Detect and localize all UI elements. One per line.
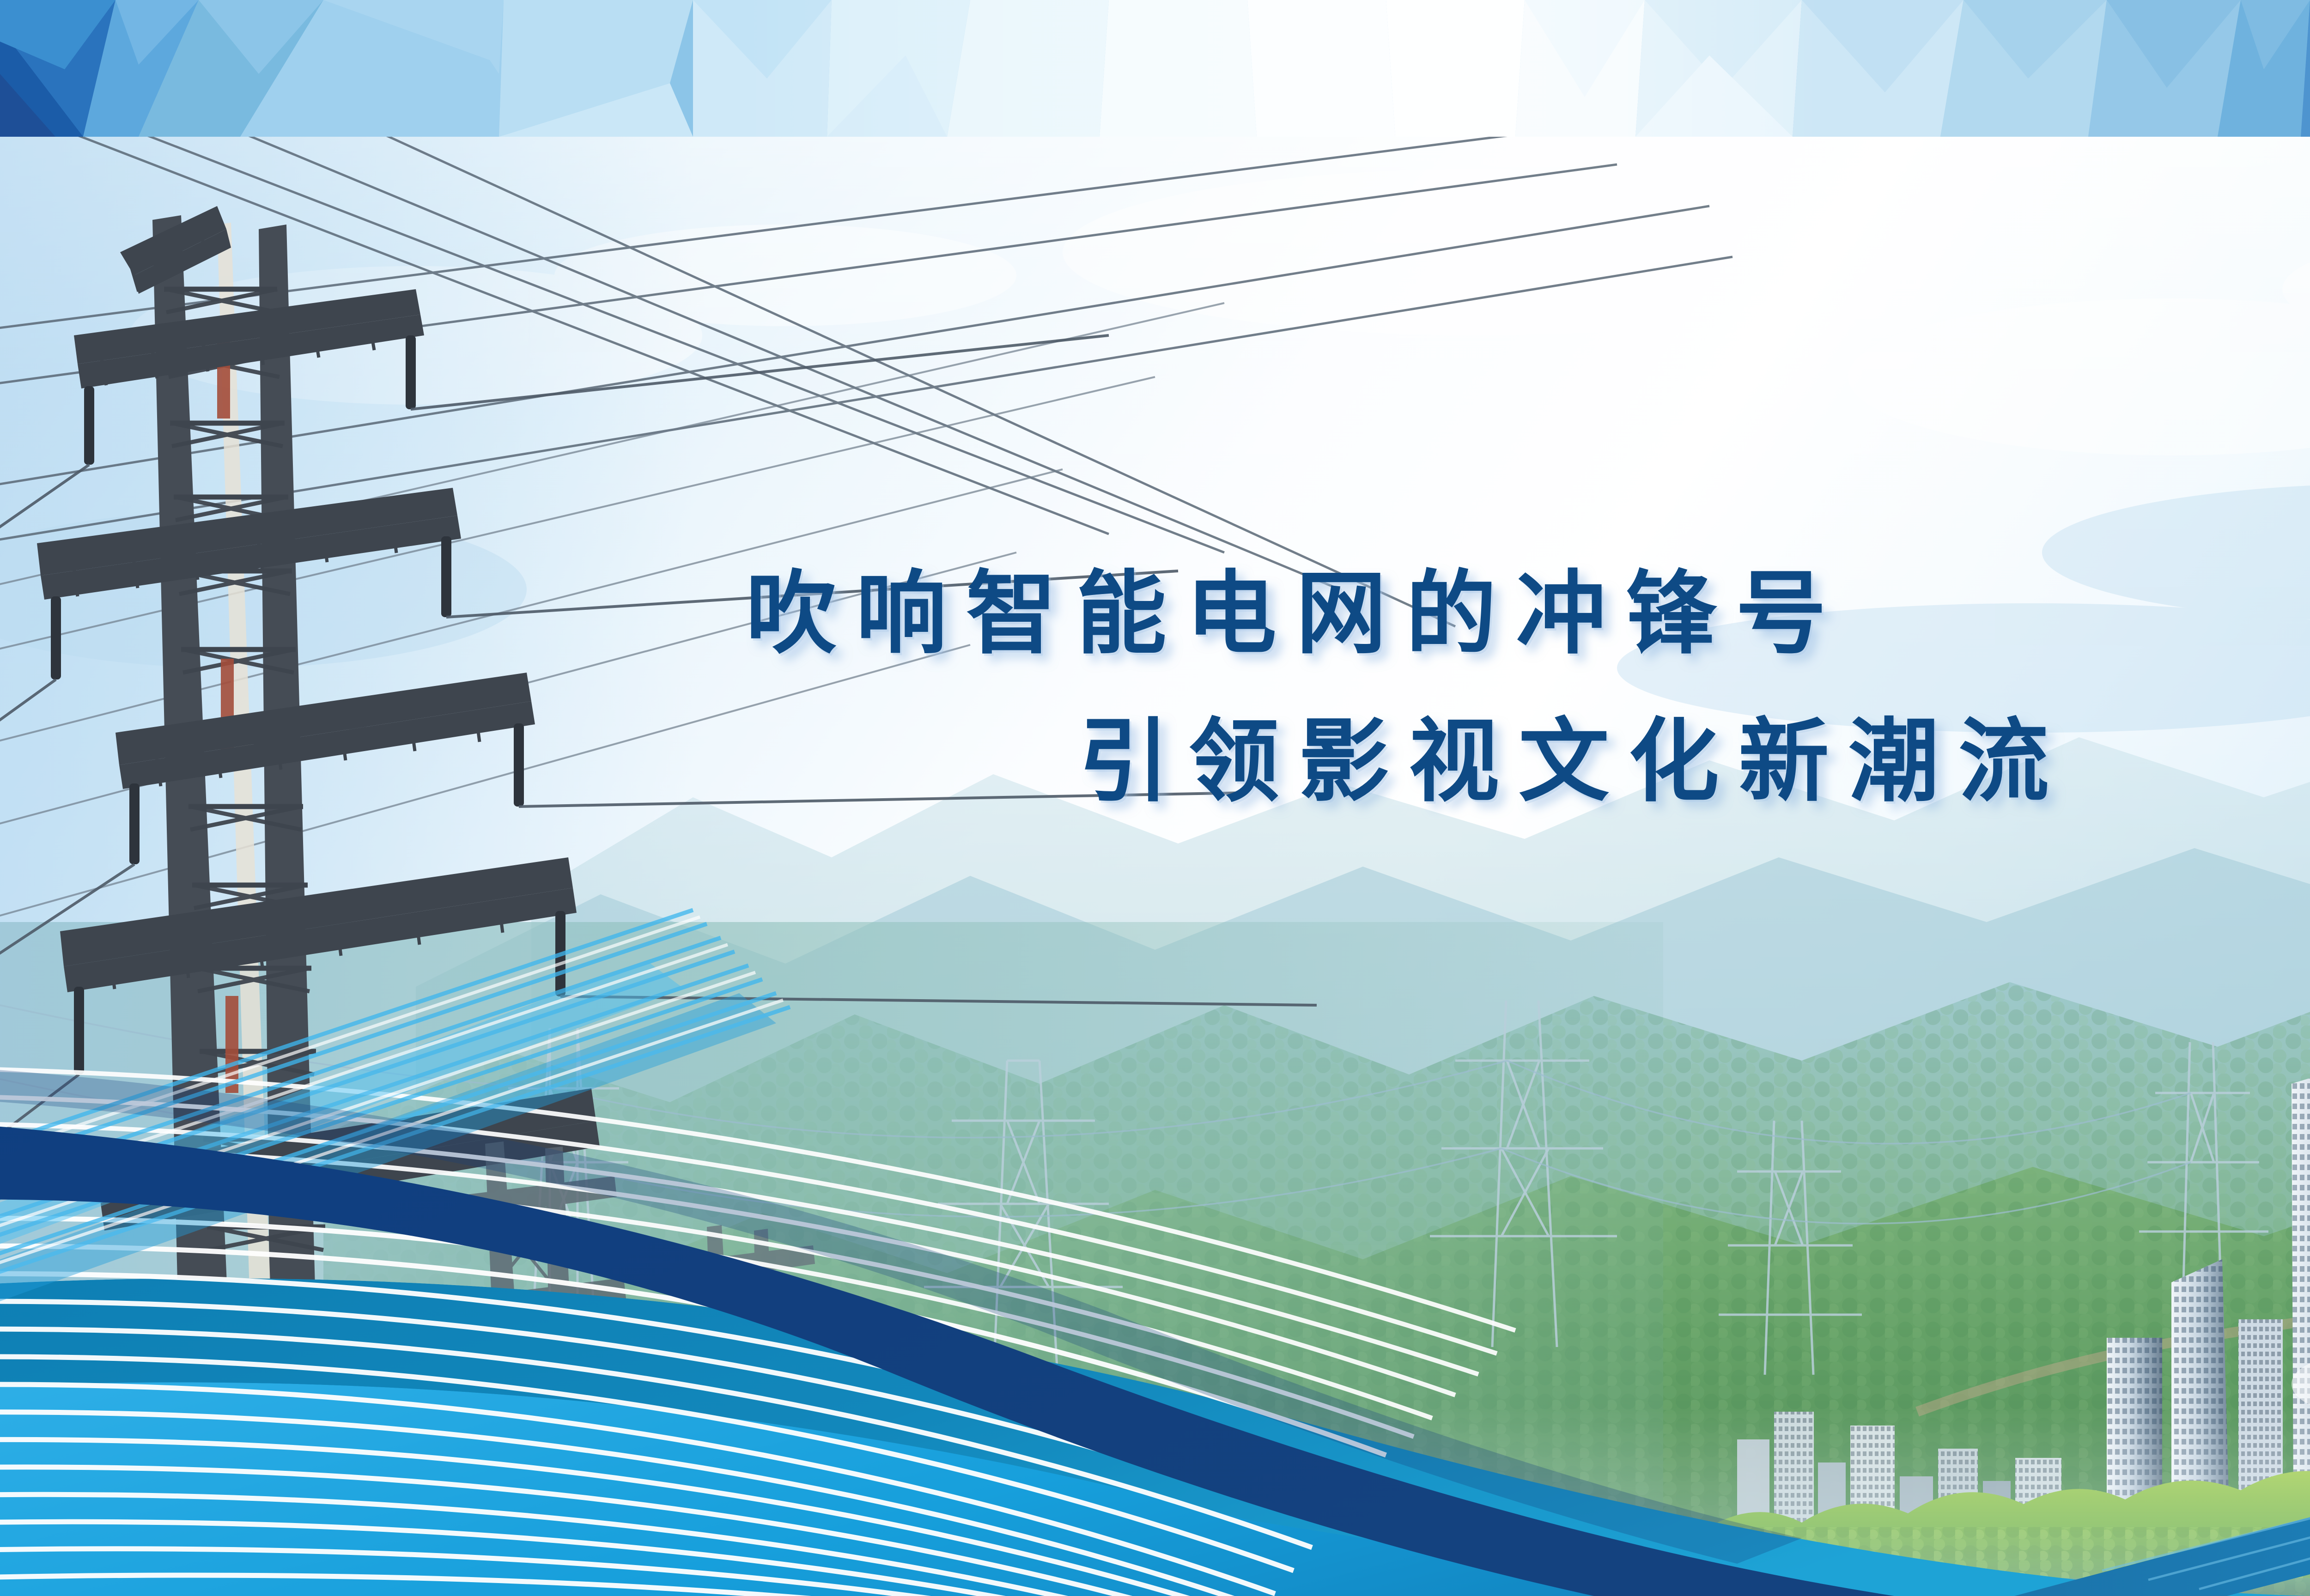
scene-svg [0, 137, 2310, 1596]
scene-photo [0, 137, 2310, 1596]
polygon-pattern-svg [0, 0, 2310, 137]
poster-canvas: 吹响智能电网的冲锋号 引领影视文化新潮流 [0, 0, 2310, 1596]
header-polygon-band [0, 0, 2310, 137]
